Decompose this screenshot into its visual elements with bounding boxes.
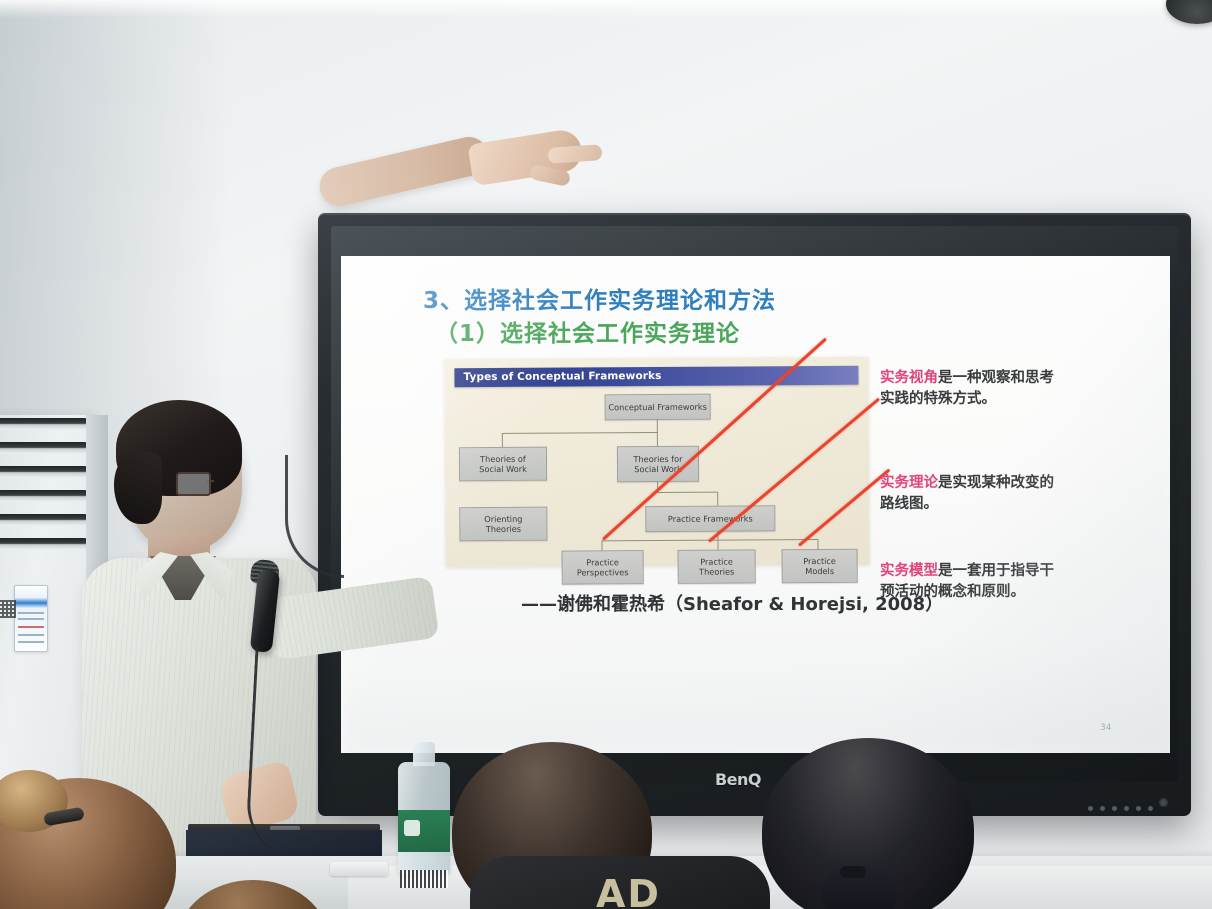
connector — [817, 539, 818, 549]
air-conditioner-vents — [0, 418, 86, 553]
connector — [717, 492, 718, 506]
diagram-box-practice-models: Practice Models — [782, 549, 858, 583]
connector — [657, 432, 658, 446]
diagram-box-orienting-theories: Orienting Theories — [459, 507, 547, 542]
diagram-box-practice-frameworks: Practice Frameworks — [645, 505, 775, 532]
benq-logo: BenQ — [700, 768, 776, 790]
slide-title-line1: 3、选择社会工作实务理论和方法 — [423, 281, 776, 315]
connector — [502, 432, 658, 434]
panel-screen[interactable]: 3、选择社会工作实务理论和方法 （1）选择社会工作实务理论 Types of C… — [341, 256, 1170, 753]
qr-code-icon — [0, 600, 16, 618]
annotation-1: 实务视角是一种观察和思考实践的特殊方式。 — [880, 368, 1058, 410]
hair-band-icon — [840, 866, 866, 878]
annotation-2: 实务理论是实现某种改变的路线图。 — [880, 473, 1058, 515]
annotation-3-term: 实务模型 — [880, 563, 938, 579]
slide-page-number: 34 — [1100, 723, 1111, 733]
presentation-slide: 3、选择社会工作实务理论和方法 （1）选择社会工作实务理论 Types of C… — [341, 256, 1170, 753]
slide-citation: ——谢佛和霍热希（Sheafor & Horejsi, 2008） — [521, 590, 943, 616]
connector — [502, 433, 503, 447]
lecture-photo-scene: 3、选择社会工作实务理论和方法 （1）选择社会工作实务理论 Types of C… — [0, 0, 1212, 909]
diagram-box-conceptual-frameworks: Conceptual Frameworks — [605, 394, 711, 421]
presenter-hair-side — [114, 452, 162, 524]
ir-sensor-icon — [1159, 798, 1168, 807]
water-bottle — [398, 742, 450, 874]
diagram-banner-label: Types of Conceptual Frameworks — [463, 370, 661, 383]
jacket-text: AD — [596, 872, 661, 909]
annotation-2-term: 实务理论 — [880, 475, 938, 491]
diagram-banner: Types of Conceptual Frameworks — [454, 366, 858, 387]
energy-efficiency-label — [14, 585, 48, 652]
bottle-body — [398, 762, 450, 874]
connector — [717, 540, 718, 550]
smartphone-on-desk — [330, 862, 388, 876]
eyeglasses-icon — [176, 472, 246, 494]
bottle-label — [398, 810, 450, 852]
diagram-box-practice-perspectives: Practice Perspectives — [562, 550, 644, 585]
annotation-1-term: 实务视角 — [880, 370, 938, 386]
slide-title-line2: （1）选择社会工作实务理论 — [435, 314, 740, 348]
connector — [657, 492, 717, 493]
connector — [601, 540, 602, 550]
diagram-box-practice-theories: Practice Theories — [678, 549, 756, 583]
microphone-cable — [245, 647, 311, 860]
ceiling-edge — [0, 0, 1212, 18]
barcode-icon — [400, 870, 448, 888]
connector — [657, 418, 658, 432]
diagram-box-theories-of-social-work: Theories of Social Work — [459, 447, 547, 482]
